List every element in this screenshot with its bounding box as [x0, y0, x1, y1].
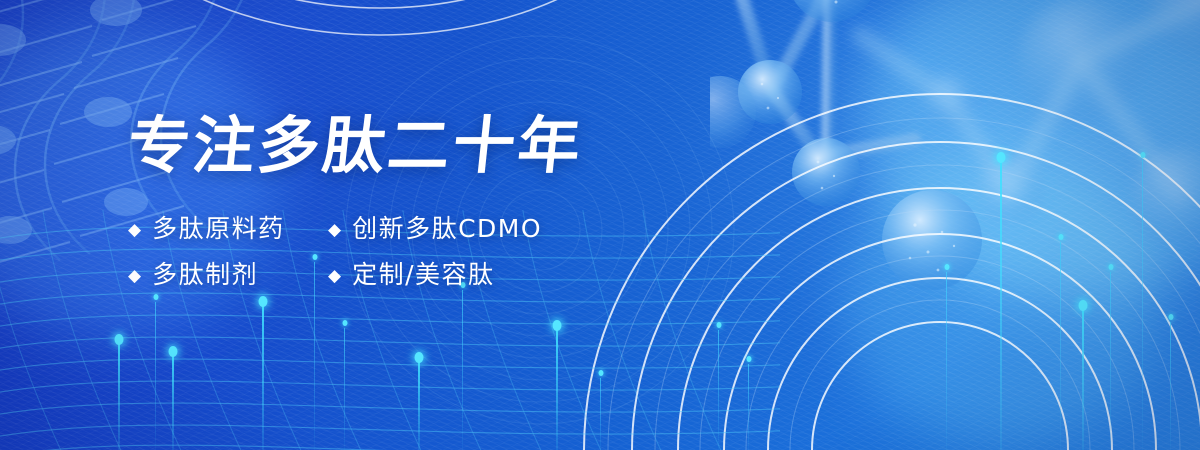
pin-marker-icon [418, 360, 420, 450]
pin-marker-icon [1082, 308, 1084, 450]
feature-item-peptide-api[interactable]: ◆ 多肽原料药 [128, 214, 328, 244]
pin-marker-icon [1110, 272, 1111, 450]
diamond-bullet-icon: ◆ [128, 221, 141, 238]
pin-marker-icon [556, 328, 558, 450]
pin-marker-icon [344, 328, 345, 450]
pin-marker-icon [718, 330, 719, 450]
pin-marker-icon [748, 364, 749, 450]
feature-item-custom-cosmetic-peptide[interactable]: ◆ 定制/美容肽 [328, 260, 495, 290]
feature-label: 多肽原料药 [152, 214, 285, 244]
feature-label: 定制/美容肽 [352, 260, 494, 290]
pin-marker-icon [172, 354, 174, 450]
diamond-bullet-icon: ◆ [328, 267, 341, 284]
feature-label: 创新多肽CDMO [352, 214, 542, 244]
banner-content: 专注多肽二十年 ◆ 多肽原料药 ◆ 创新多肽CDMO ◆ 多肽制剂 ◆ [128, 112, 583, 298]
pin-marker-icon [262, 304, 264, 450]
feature-item-peptide-cdmo[interactable]: ◆ 创新多肽CDMO [328, 214, 542, 244]
feature-label: 多肽制剂 [152, 260, 258, 290]
pin-marker-icon [1000, 160, 1002, 450]
diamond-bullet-icon: ◆ [128, 267, 141, 284]
pin-marker-icon [946, 272, 947, 450]
pin-marker-icon [1142, 160, 1143, 450]
pin-marker-icon [600, 378, 601, 450]
feature-row: ◆ 多肽原料药 ◆ 创新多肽CDMO [128, 206, 583, 252]
pin-marker-icon [462, 290, 463, 450]
page-title: 专注多肽二十年 [124, 112, 586, 180]
diamond-bullet-icon: ◆ [328, 221, 341, 238]
pin-marker-icon [118, 342, 120, 450]
feature-item-peptide-formulation[interactable]: ◆ 多肽制剂 [128, 260, 328, 290]
pin-marker-icon [1060, 242, 1061, 450]
feature-row: ◆ 多肽制剂 ◆ 定制/美容肽 [128, 252, 583, 298]
pin-marker-icon [155, 302, 156, 450]
pin-marker-icon [1170, 322, 1171, 450]
feature-list: ◆ 多肽原料药 ◆ 创新多肽CDMO ◆ 多肽制剂 ◆ 定制/美容肽 [128, 206, 583, 298]
hero-banner: 专注多肽二十年 ◆ 多肽原料药 ◆ 创新多肽CDMO ◆ 多肽制剂 ◆ [0, 0, 1200, 450]
